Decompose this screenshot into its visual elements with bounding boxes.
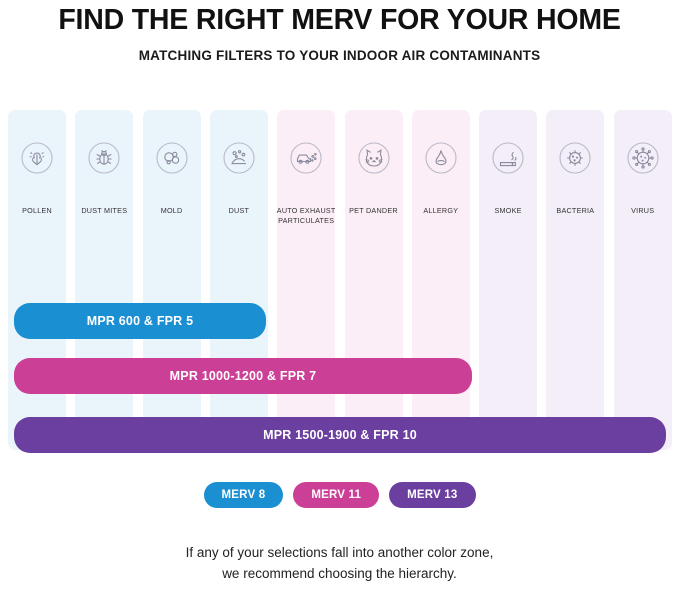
contaminant-label: BACTERIA xyxy=(539,206,611,216)
legend-item-merv-8[interactable]: MERV 8 xyxy=(204,482,284,508)
virus-icon xyxy=(625,140,661,176)
footnote-line-2: we recommend choosing the hierarchy. xyxy=(0,563,679,584)
car-exhaust-icon xyxy=(288,140,324,176)
cat-icon xyxy=(356,140,392,176)
footnote-line-1: If any of your selections fall into anot… xyxy=(0,542,679,563)
contaminant-label: VIRUS xyxy=(607,206,679,216)
bacteria-icon xyxy=(557,140,593,176)
flower-icon xyxy=(19,140,55,176)
contaminant-label: AUTO EXHAUST PARTICULATES xyxy=(270,206,342,225)
contaminant-column-virus: VIRUS xyxy=(614,110,672,450)
contaminant-column-allergy: ALLERGY xyxy=(412,110,470,450)
contaminant-label: POLLEN xyxy=(1,206,73,216)
contaminant-label: DUST xyxy=(203,206,275,216)
contaminant-label: PET DANDER xyxy=(338,206,410,216)
infographic-page: FIND THE RIGHT MERV FOR YOUR HOME MATCHI… xyxy=(0,0,679,589)
merv-bar-blue[interactable]: MPR 600 & FPR 5 xyxy=(14,303,266,339)
contaminant-label: SMOKE xyxy=(472,206,544,216)
contaminant-column-dust: DUST xyxy=(210,110,268,450)
cigarette-icon xyxy=(490,140,526,176)
contaminant-column-pollen: POLLEN xyxy=(8,110,66,450)
mold-icon xyxy=(154,140,190,176)
contaminant-column-mold: MOLD xyxy=(143,110,201,450)
contaminant-label: DUST MITES xyxy=(68,206,140,216)
page-title: FIND THE RIGHT MERV FOR YOUR HOME xyxy=(0,4,679,37)
nose-icon xyxy=(423,140,459,176)
dust-icon xyxy=(221,140,257,176)
page-subtitle: MATCHING FILTERS TO YOUR INDOOR AIR CONT… xyxy=(0,48,679,63)
contaminant-column-dust-mites: DUST MITES xyxy=(75,110,133,450)
contaminant-column-pet-dander: PET DANDER xyxy=(345,110,403,450)
merv-bar-purple[interactable]: MPR 1500-1900 & FPR 10 xyxy=(14,417,666,453)
contaminant-column-bacteria: BACTERIA xyxy=(546,110,604,450)
dust-mite-icon xyxy=(86,140,122,176)
merv-legend: MERV 8 MERV 11 MERV 13 xyxy=(0,482,679,508)
merv-bar-pink[interactable]: MPR 1000-1200 & FPR 7 xyxy=(14,358,472,394)
contaminant-column-auto-exhaust-particulates: AUTO EXHAUST PARTICULATES xyxy=(277,110,335,450)
contaminant-column-smoke: SMOKE xyxy=(479,110,537,450)
contaminant-columns: POLLEN DUST MITES xyxy=(8,110,672,450)
contaminant-label: MOLD xyxy=(136,206,208,216)
legend-item-merv-13[interactable]: MERV 13 xyxy=(389,482,475,508)
legend-item-merv-11[interactable]: MERV 11 xyxy=(293,482,379,508)
contaminant-label: ALLERGY xyxy=(405,206,477,216)
footnote: If any of your selections fall into anot… xyxy=(0,542,679,584)
